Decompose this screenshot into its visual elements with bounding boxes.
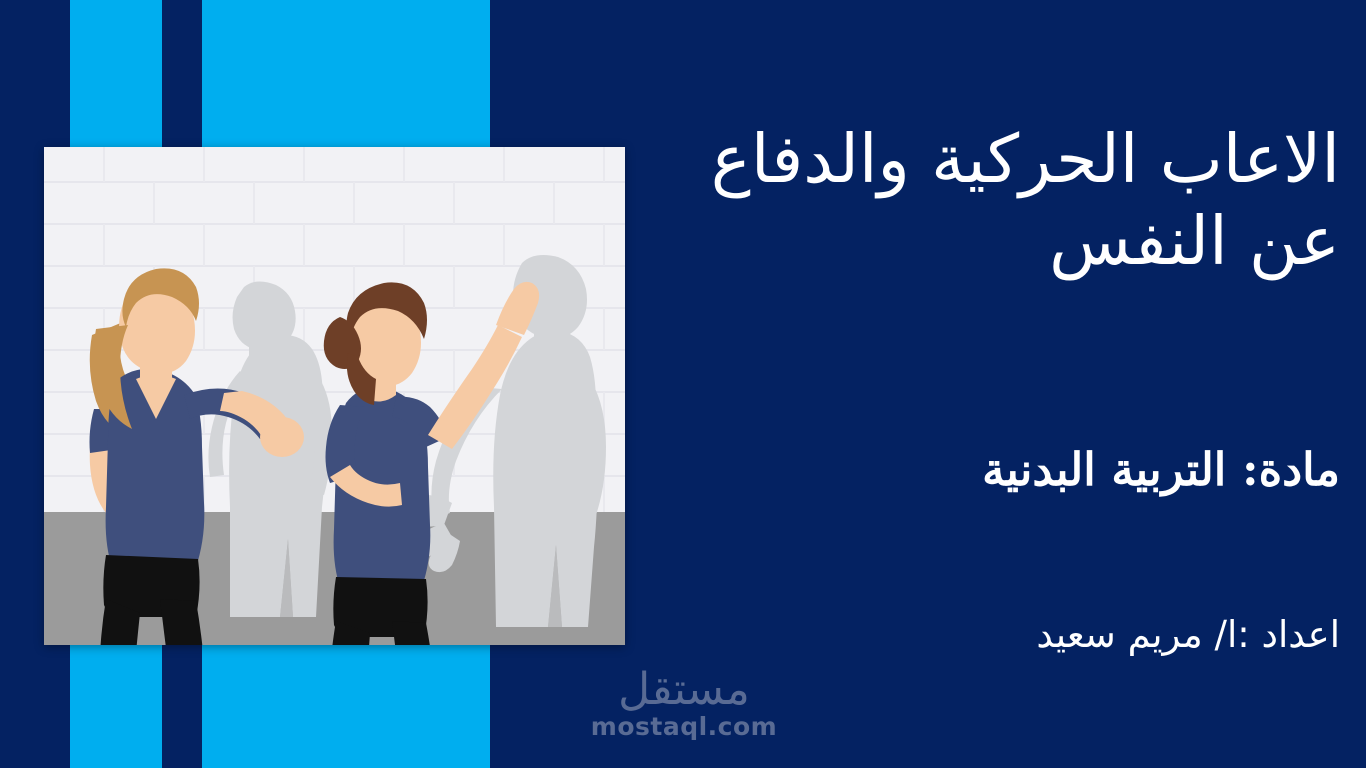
- mostaql-arabic-wordmark: مستقل: [586, 668, 782, 712]
- title-slide: الاعاب الحركية والدفاع عن النفس مادة: ال…: [0, 0, 1366, 768]
- subject-line: مادة: التربية البدنية: [660, 443, 1340, 497]
- author-line: اعداد :ا/ مريم سعيد: [660, 613, 1340, 657]
- self-defense-illustration: [44, 147, 625, 645]
- slide-text-column: الاعاب الحركية والدفاع عن النفس مادة: ال…: [660, 0, 1350, 768]
- page-title: الاعاب الحركية والدفاع عن النفس: [660, 119, 1340, 282]
- mostaql-watermark: مستقل mostaql.com: [586, 668, 782, 739]
- mostaql-domain-label: mostaql.com: [586, 714, 782, 739]
